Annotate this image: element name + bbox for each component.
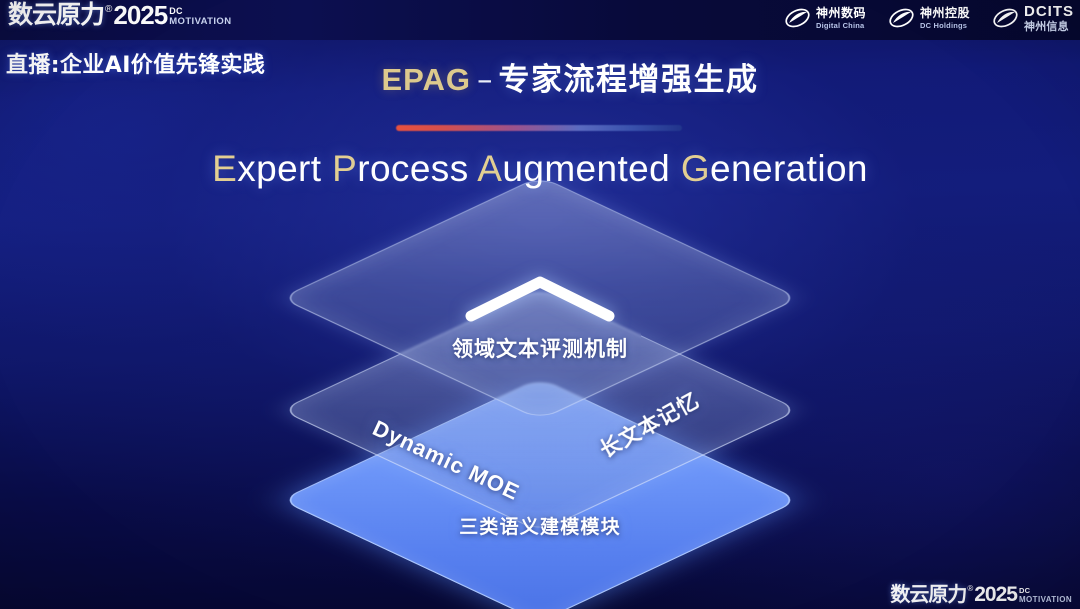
- title-subtitle-cn: 专家流程增强生成: [499, 62, 759, 98]
- watermark-dc-text: DC: [1019, 587, 1072, 595]
- subtitle-rest-augmented: ugmented: [502, 148, 670, 189]
- brand-year: 2025: [113, 2, 167, 28]
- diagram-label-top: 领域文本评测机制: [0, 333, 1080, 363]
- watermark-motivation-text: MOTIVATION: [1019, 595, 1072, 604]
- registered-mark: ®: [105, 4, 112, 16]
- partner-name-en: Digital China: [816, 22, 866, 30]
- swoosh-logo-icon: [888, 6, 915, 30]
- subtitle-cap-p: P: [332, 148, 357, 189]
- brand-dc-motivation: DC MOTIVATION: [169, 7, 231, 27]
- partner-label: 神州数码 Digital China: [816, 7, 866, 30]
- watermark-year: 2025: [974, 584, 1017, 605]
- subtitle-rest-process: rocess: [357, 148, 468, 189]
- subtitle-cap-g: G: [681, 148, 710, 189]
- accent-divider: [396, 125, 682, 131]
- partner-logo-dcits: DCITS 神州信息: [992, 4, 1074, 32]
- english-subtitle: Expert Process Augmented Generation: [0, 148, 1080, 190]
- watermark-logo: 数云原力 ® 2025 DC MOTIVATION: [890, 583, 1072, 605]
- watermark-name-cn: 数云原力: [890, 584, 966, 605]
- partner-name-en: DC Holdings: [920, 22, 970, 30]
- live-stream-label: 直播:企业AI价值先锋实践: [6, 47, 265, 79]
- brand-motivation-text: MOTIVATION: [169, 16, 231, 27]
- brand-dc-text: DC: [169, 7, 231, 16]
- watermark-registered-mark: ®: [967, 583, 973, 595]
- chevron-up-icon: [463, 272, 617, 324]
- subtitle-rest-generation: eneration: [710, 148, 868, 189]
- brand-logo: 数云原力 ® 2025 DC MOTIVATION: [8, 2, 231, 28]
- watermark-dc-motivation: DC MOTIVATION: [1019, 587, 1072, 604]
- partner-name-cn: 神州信息: [1024, 21, 1074, 32]
- partner-name-en: DCITS: [1024, 4, 1074, 19]
- partner-logos: 神州数码 Digital China 神州控股 DC Holdings: [784, 4, 1074, 32]
- partner-label: DCITS 神州信息: [1024, 4, 1074, 32]
- partner-logo-digital-china: 神州数码 Digital China: [784, 6, 866, 30]
- subtitle-rest-expert: xpert: [237, 148, 321, 189]
- partner-name-cn: 神州数码: [816, 7, 866, 19]
- slide-canvas: 数云原力 ® 2025 DC MOTIVATION 直播:企业AI价值先锋实践 …: [0, 0, 1080, 609]
- subtitle-cap-a: A: [477, 148, 502, 189]
- swoosh-logo-icon: [992, 6, 1019, 30]
- subtitle-cap-e: E: [212, 148, 237, 189]
- partner-logo-dc-holdings: 神州控股 DC Holdings: [888, 6, 970, 30]
- title-dash: –: [477, 62, 493, 98]
- partner-name-cn: 神州控股: [920, 7, 970, 19]
- brand-name-cn: 数云原力: [8, 2, 104, 28]
- diagram-label-bottom: 三类语义建模模块: [0, 512, 1080, 539]
- partner-label: 神州控股 DC Holdings: [920, 7, 970, 30]
- swoosh-logo-icon: [784, 6, 811, 30]
- title-acronym: EPAG: [381, 62, 471, 97]
